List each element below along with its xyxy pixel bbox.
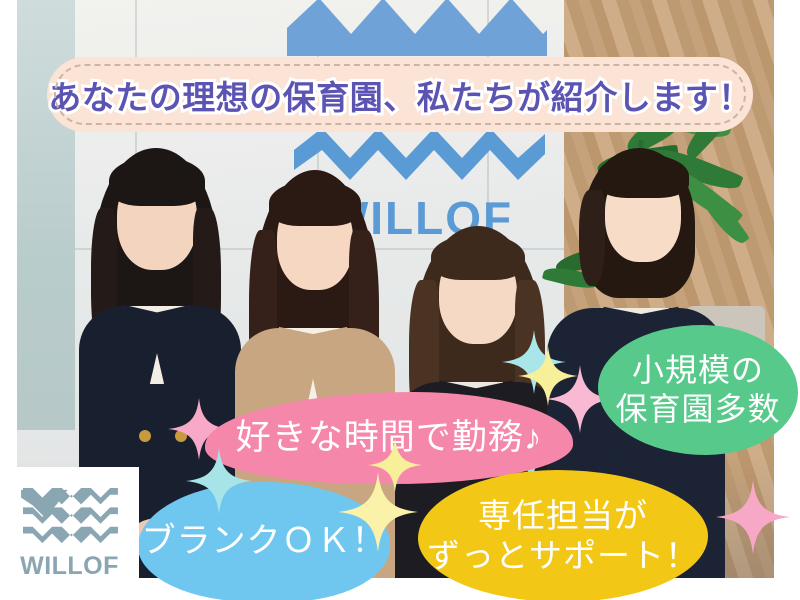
advertisement-banner: WILLOF — [0, 0, 800, 600]
bubble-dedicated-support: 専任担当が ずっとサポート！ — [418, 470, 708, 600]
willof-logo-card: WILLOF — [0, 467, 139, 600]
willof-wordmark: WILLOF — [20, 552, 119, 581]
bubble-yellow-line-2: ずっとサポート！ — [427, 536, 699, 576]
bubble-green-line-1: 小規模の — [615, 351, 780, 390]
headline-text: あなたの理想の保育園、私たちが紹介します！ — [48, 71, 752, 119]
willof-zigzag-icon — [21, 486, 118, 548]
sparkle-yellow-lower — [368, 436, 422, 494]
headline-banner: あなたの理想の保育園、私たちが紹介します！ — [47, 57, 753, 132]
sparkle-pink-right — [716, 478, 790, 556]
sparkle-cyan-left — [186, 448, 252, 514]
bubble-yellow-line-1: 専任担当が — [427, 496, 699, 536]
bubble-green-line-2: 保育園多数 — [615, 390, 780, 429]
wall-zigzag-top — [287, 0, 547, 56]
